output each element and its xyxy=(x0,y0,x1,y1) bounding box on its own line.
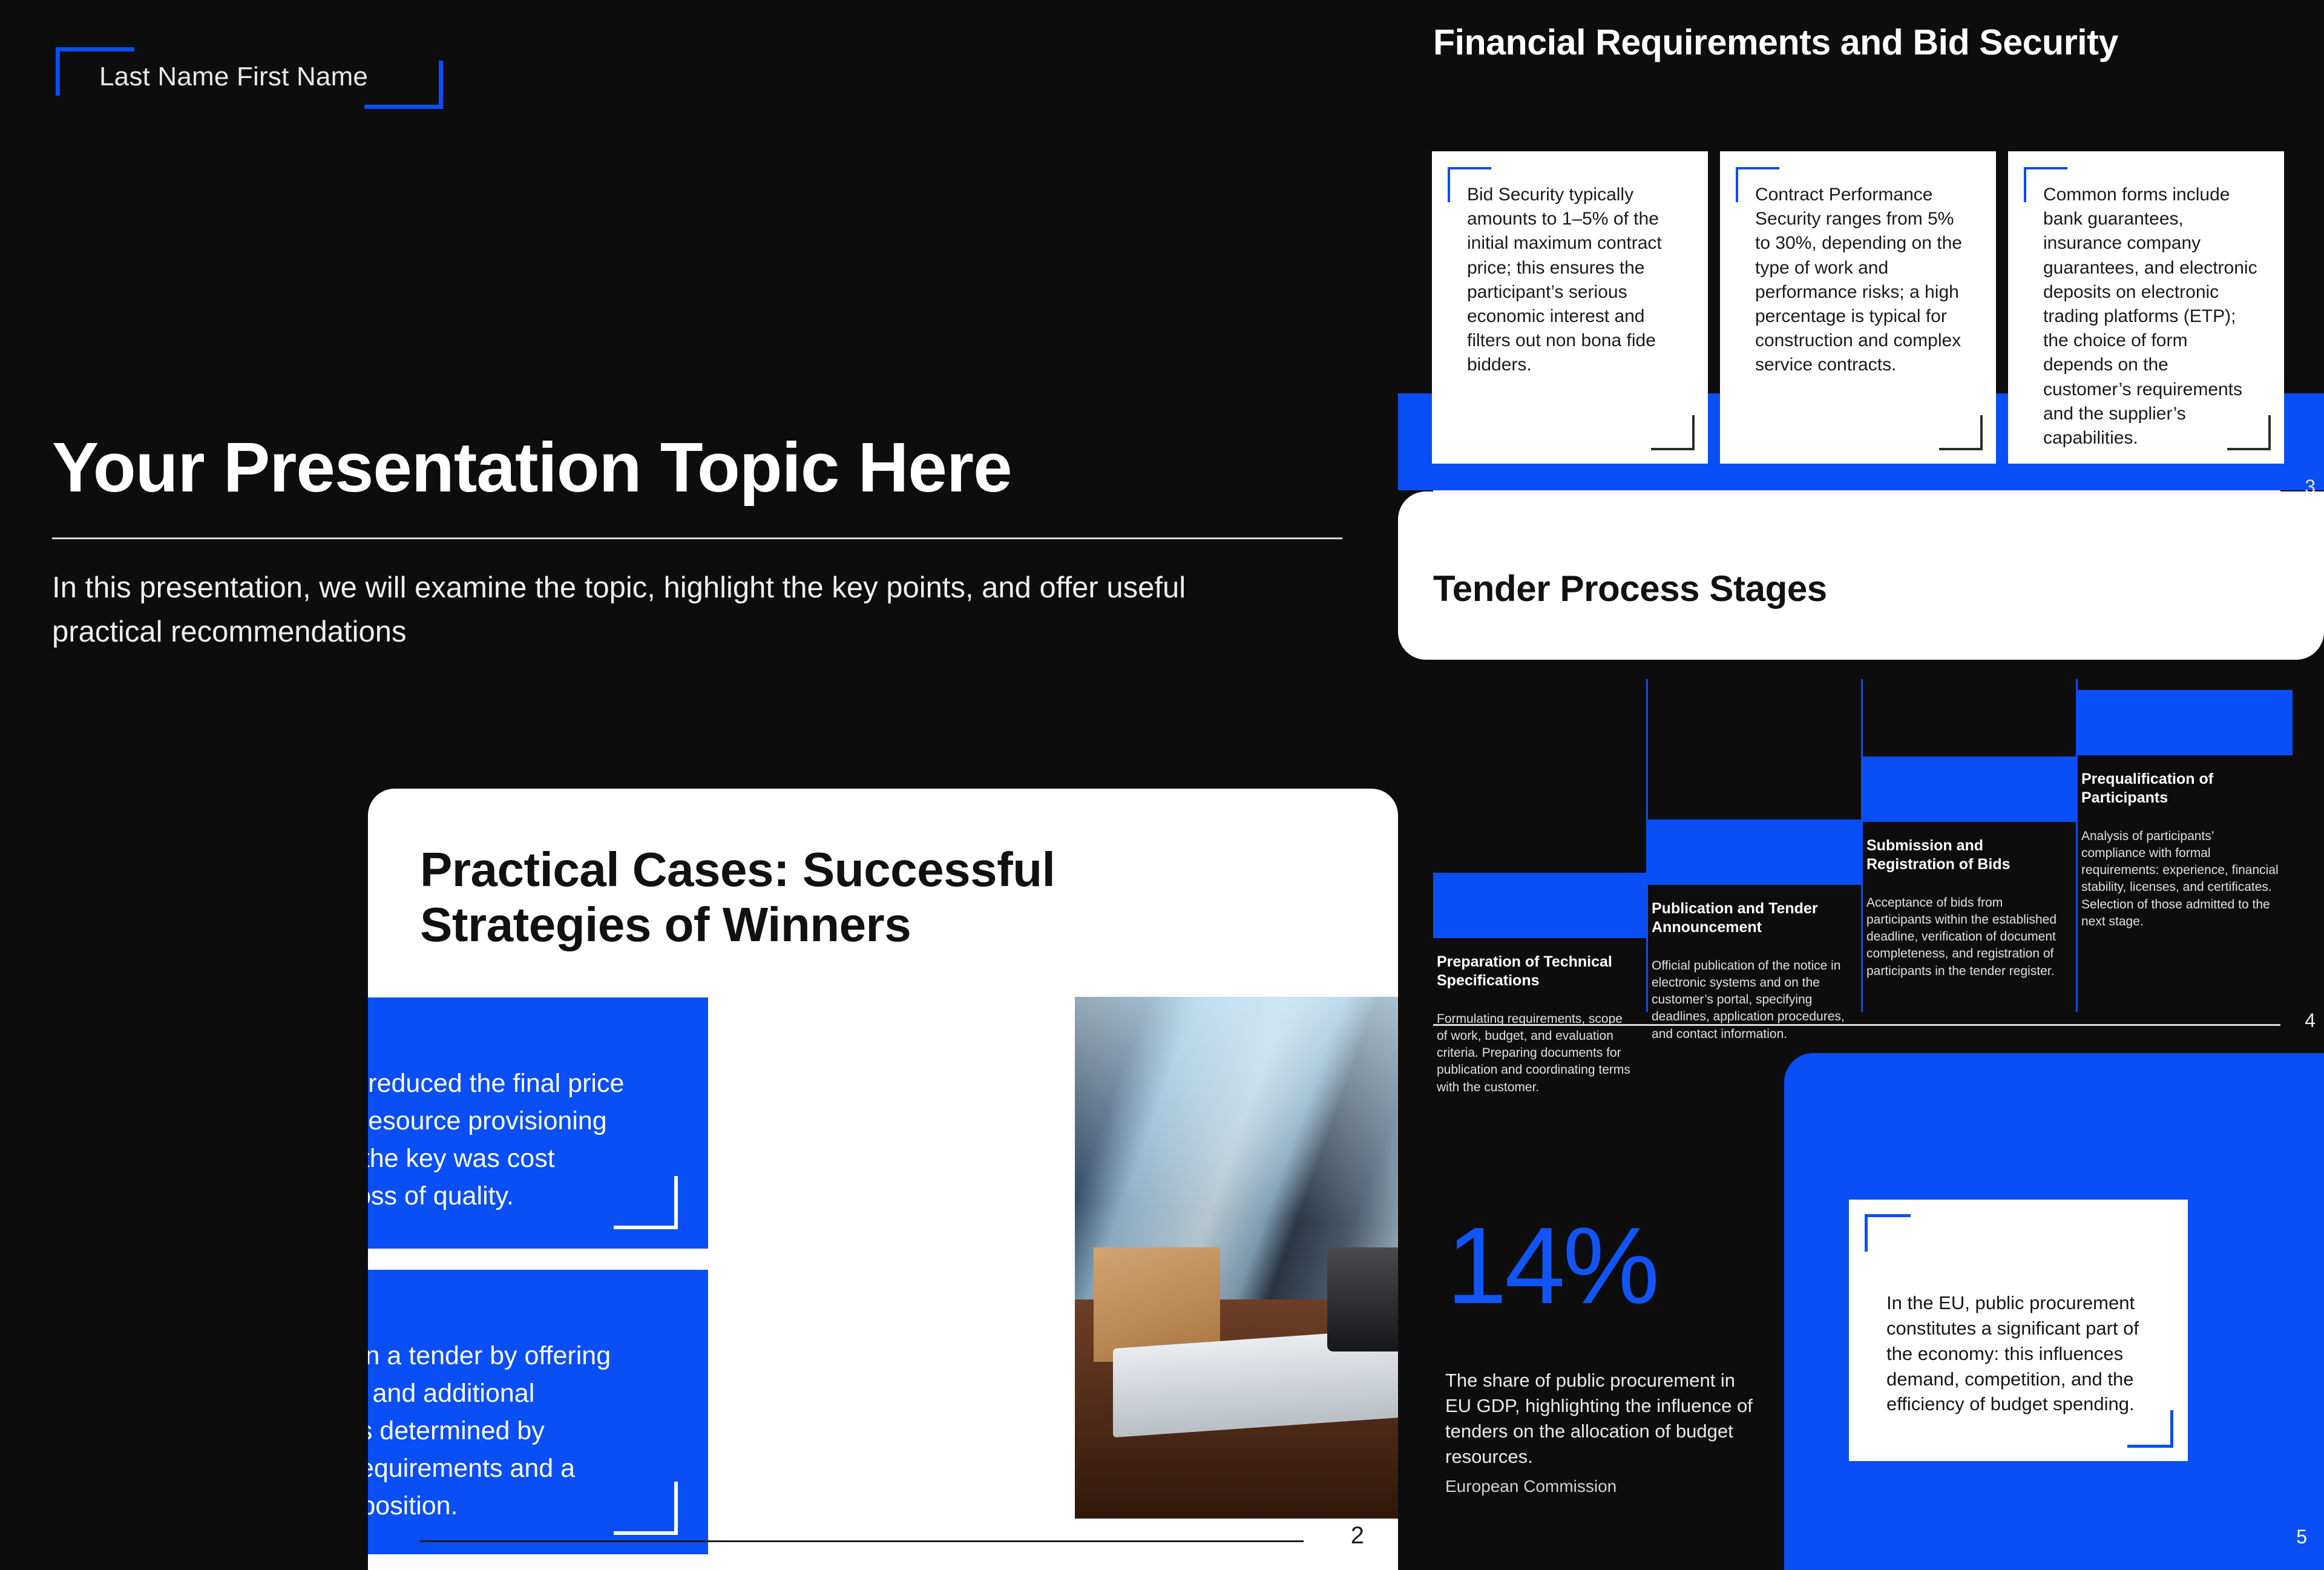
bracket-bottom-right-icon xyxy=(1939,415,1983,450)
bracket-top-left-icon xyxy=(2024,167,2067,202)
financial-card-3[interactable]: Common forms include bank guarantees, in… xyxy=(2008,151,2284,464)
financial-card-2-text: Contract Performance Security ranges fro… xyxy=(1755,183,1969,378)
slide-deck-overview: Last Name First Name Your Presentation T… xyxy=(0,0,2324,1570)
financial-card-1[interactable]: Bid Security typically amounts to 1–5% o… xyxy=(1432,151,1708,464)
stage-1-title: Preparation of Technical Specifications xyxy=(1437,953,1636,990)
bracket-top-left-icon xyxy=(1736,167,1779,202)
stage-2-title: Publication and Tender Announcement xyxy=(1652,899,1851,937)
bracket-top-left-icon xyxy=(1865,1214,1911,1252)
presentation-subtitle: In this presentation, we will examine th… xyxy=(52,566,1202,654)
camera-object xyxy=(1327,1247,1398,1352)
slide-financial-requirements[interactable]: Financial Requirements and Bid Security … xyxy=(1398,0,2324,527)
bracket-bottom-right-icon xyxy=(1651,415,1695,450)
financial-heading: Financial Requirements and Bid Security xyxy=(1433,22,2118,63)
stage-4-text: Analysis of participants’ compliance wit… xyxy=(2081,828,2281,930)
right-slide-column: Financial Requirements and Bid Security … xyxy=(1398,0,2324,1570)
stage-content: Submission and Registration of Bids Acce… xyxy=(1866,836,2066,980)
stage-bar xyxy=(1433,873,1648,938)
stage-staircase-diagram: Preparation of Technical Specifications … xyxy=(1433,679,2293,1012)
stages-title-panel: Tender Process Stages xyxy=(1398,491,2324,660)
bracket-bottom-right-icon xyxy=(2227,415,2271,450)
stages-heading: Tender Process Stages xyxy=(1433,568,1827,609)
page-number: 5 xyxy=(2296,1526,2307,1548)
slide-statistic[interactable]: 14% The share of public procurement in E… xyxy=(1398,1053,2324,1570)
office-desk-photo xyxy=(1075,997,1398,1519)
stage-bar xyxy=(2078,690,2293,755)
stage-content: Prequalification of Participants Analysi… xyxy=(2081,770,2281,930)
presentation-heading: Your Presentation Topic Here xyxy=(52,430,1347,505)
case-2-text: Case 2: A supplier won a tender by offer… xyxy=(368,1270,708,1570)
stages-footer-divider xyxy=(1433,1024,2280,1026)
stage-column-2[interactable]: Publication and Tender Announcement Offi… xyxy=(1648,679,1863,1012)
case-card-2[interactable]: Case 2: A supplier won a tender by offer… xyxy=(368,1270,708,1554)
stage-4-title: Prequalification of Participants xyxy=(2081,770,2281,807)
page-number: 2 xyxy=(1351,1522,1364,1549)
title-divider xyxy=(52,537,1342,539)
cases-heading: Practical Cases: Successful Strategies o… xyxy=(420,842,1183,952)
statistic-detail-card[interactable]: In the EU, public procurement constitute… xyxy=(1849,1200,2188,1461)
stage-bar xyxy=(1648,819,1863,885)
stage-content: Publication and Tender Announcement Offi… xyxy=(1652,899,1851,1043)
statistic-card-text: In the EU, public procurement constitute… xyxy=(1886,1290,2153,1417)
statistic-source: European Commission xyxy=(1445,1477,1617,1496)
author-badge: Last Name First Name xyxy=(56,47,443,102)
stage-column-4[interactable]: Prequalification of Participants Analysi… xyxy=(2078,679,2293,1012)
case-1-text: Case 1: A consortium reduced the final p… xyxy=(368,997,708,1283)
slide-title[interactable]: Last Name First Name Your Presentation T… xyxy=(0,0,1398,1570)
cases-footer-divider xyxy=(420,1540,1304,1542)
financial-card-group: Bid Security typically amounts to 1–5% o… xyxy=(1432,151,2290,464)
stage-bar xyxy=(1863,757,2078,822)
slide-practical-cases[interactable]: Practical Cases: Successful Strategies o… xyxy=(368,789,1398,1570)
slide-tender-process-stages[interactable]: Tender Process Stages Preparation of Tec… xyxy=(1398,491,2324,1048)
statistic-value: 14% xyxy=(1446,1212,1657,1321)
stage-2-text: Official publication of the notice in el… xyxy=(1652,957,1851,1043)
financial-card-1-text: Bid Security typically amounts to 1–5% o… xyxy=(1467,183,1681,378)
stage-3-title: Submission and Registration of Bids xyxy=(1866,836,2066,874)
statistic-description: The share of public procurement in EU GD… xyxy=(1445,1368,1760,1469)
bracket-top-left-icon xyxy=(1448,167,1491,202)
stage-column-1[interactable]: Preparation of Technical Specifications … xyxy=(1433,679,1648,1012)
page-number: 4 xyxy=(2305,1010,2316,1032)
stage-3-text: Acceptance of bids from participants wit… xyxy=(1866,895,2066,980)
stage-column-3[interactable]: Submission and Registration of Bids Acce… xyxy=(1863,679,2078,1012)
financial-card-3-text: Common forms include bank guarantees, in… xyxy=(2043,183,2257,450)
bracket-bottom-right-icon xyxy=(364,61,443,109)
author-name: Last Name First Name xyxy=(99,62,368,92)
case-card-1[interactable]: Case 1: A consortium reduced the final p… xyxy=(368,997,708,1249)
financial-card-2[interactable]: Contract Performance Security ranges fro… xyxy=(1720,151,1996,464)
